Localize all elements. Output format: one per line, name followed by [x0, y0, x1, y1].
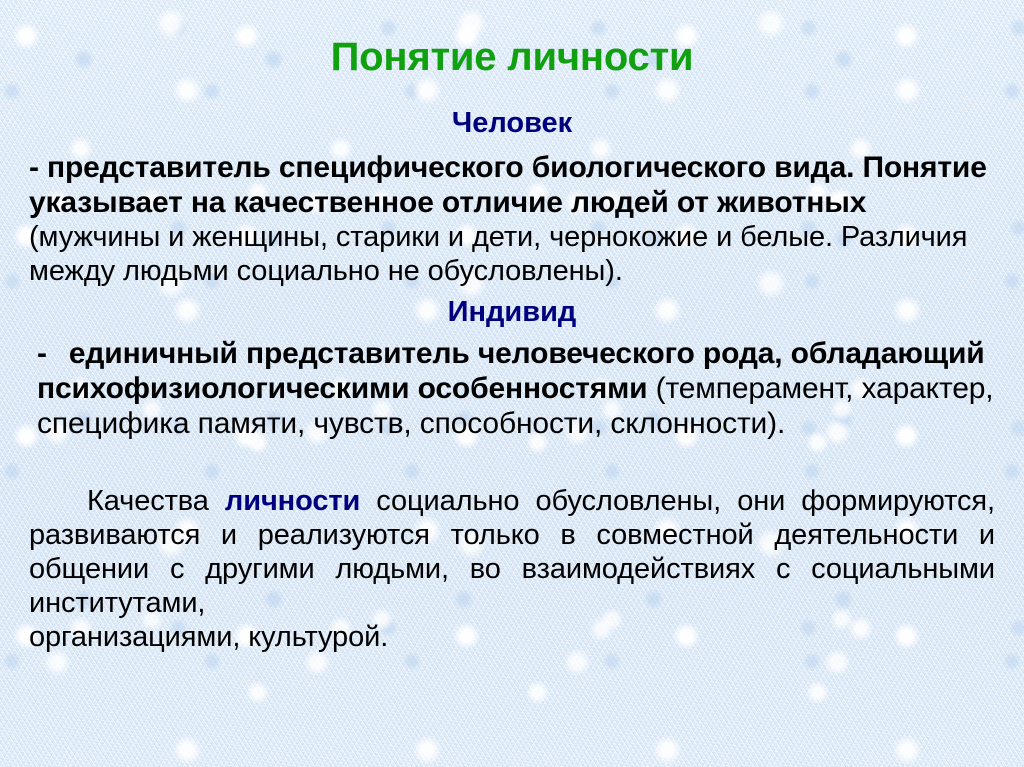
definition-individ-term: особенностями	[418, 372, 648, 405]
section-heading-individ: Индивид	[29, 289, 995, 327]
closing-highlight-lichnosti: личности	[225, 485, 360, 517]
slide-canvas: Понятие личности Человек - представитель…	[0, 0, 1024, 767]
section-heading-chelovek: Человек	[29, 104, 995, 138]
closing-part-1: Качества	[87, 485, 225, 517]
closing-paragraph: Качества личности социально обусловлены,…	[29, 471, 995, 654]
closing-last-line: организациями, культурой.	[29, 620, 995, 654]
definition-individ: -единичный представитель человеческого р…	[29, 327, 995, 442]
page-title: Понятие личности	[29, 27, 995, 77]
definition-chelovek: - представитель специфического биологиче…	[29, 138, 995, 221]
definition-individ-dash: -	[37, 337, 47, 370]
slide-content: Понятие личности Человек - представитель…	[29, 0, 995, 683]
note-chelovek: (мужчины и женщины, старики и дети, черн…	[29, 220, 995, 289]
